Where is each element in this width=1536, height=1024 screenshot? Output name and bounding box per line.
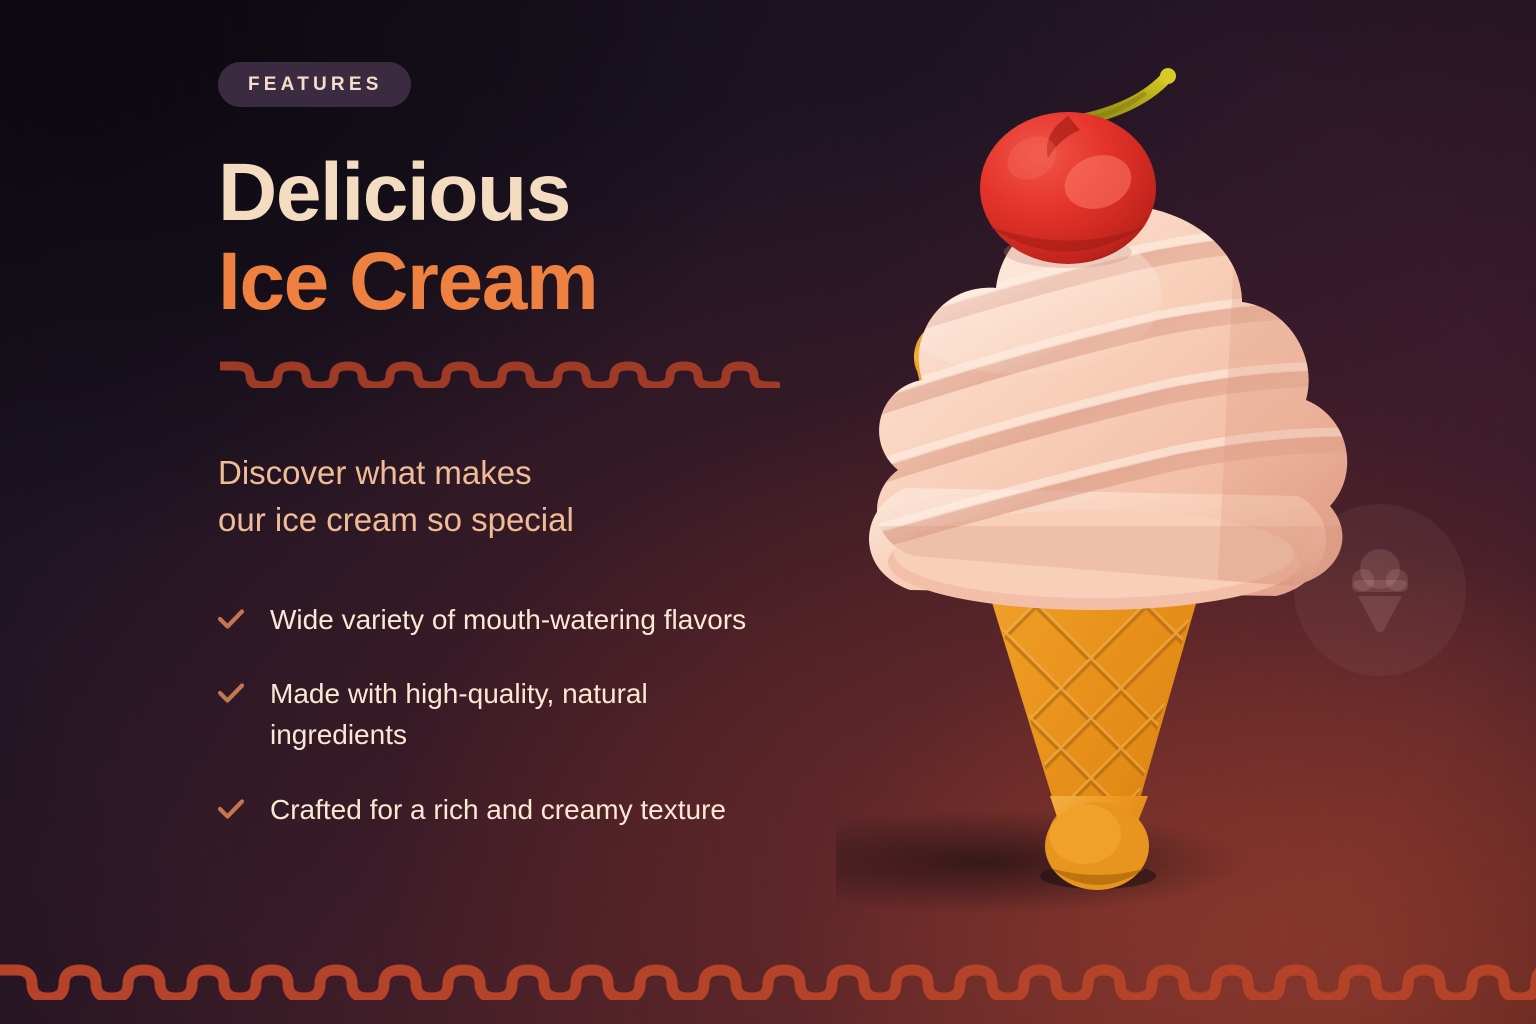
subtitle: Discover what makes our ice cream so spe… bbox=[218, 450, 858, 544]
slide-canvas: FEATURES Delicious Ice Cream Discover wh… bbox=[0, 0, 1536, 1024]
headline-line-2: Ice Cream bbox=[218, 238, 858, 327]
ice-cream-cone-icon-badge bbox=[1294, 504, 1466, 676]
ice-cream-cone-icon bbox=[1342, 546, 1418, 634]
check-icon bbox=[218, 609, 244, 634]
ice-cream-cone-3d bbox=[836, 56, 1396, 936]
wavy-bottom-border bbox=[0, 954, 1536, 1000]
list-item: Made with high-quality, natural ingredie… bbox=[218, 674, 858, 755]
subtitle-line-1: Discover what makes bbox=[218, 450, 858, 497]
feature-list: Wide variety of mouth-watering flavors M… bbox=[218, 600, 858, 830]
check-icon bbox=[218, 683, 244, 708]
features-badge: FEATURES bbox=[218, 62, 411, 107]
page-title: Delicious Ice Cream bbox=[218, 149, 858, 326]
wavy-divider bbox=[220, 354, 780, 388]
subtitle-line-2: our ice cream so special bbox=[218, 497, 858, 544]
headline-line-1: Delicious bbox=[218, 149, 858, 238]
feature-text: Made with high-quality, natural ingredie… bbox=[270, 674, 770, 755]
check-icon bbox=[218, 799, 244, 824]
content-column: FEATURES Delicious Ice Cream Discover wh… bbox=[218, 62, 858, 830]
feature-text: Wide variety of mouth-watering flavors bbox=[270, 600, 746, 641]
list-item: Wide variety of mouth-watering flavors bbox=[218, 600, 858, 641]
feature-text: Crafted for a rich and creamy texture bbox=[270, 790, 726, 831]
list-item: Crafted for a rich and creamy texture bbox=[218, 790, 858, 831]
